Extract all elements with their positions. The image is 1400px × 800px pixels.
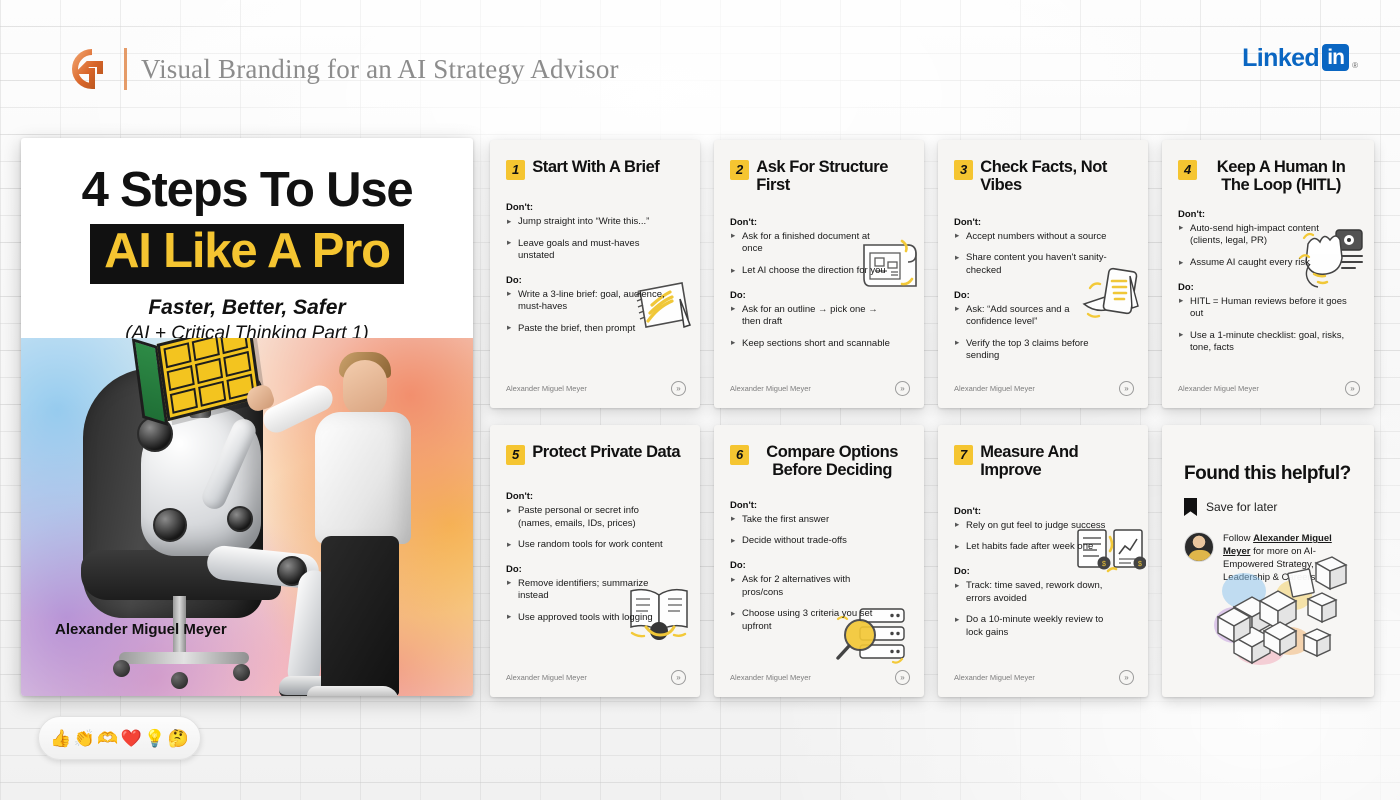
list-item: Auto-send high-impact content (clients, … <box>1178 223 1338 248</box>
dont-label: Don't: <box>954 217 1132 228</box>
list-item: Paste personal or secret info (names, em… <box>506 505 666 530</box>
cover-line-3: Faster, Better, Safer <box>41 296 453 320</box>
chevron-double-right-icon[interactable]: » <box>895 670 910 685</box>
card-title-row: 7 Measure And Improve <box>954 443 1132 480</box>
curious-think-reaction-icon[interactable]: 🤔 <box>168 730 189 747</box>
list-item: Use approved tools with logging <box>506 612 666 625</box>
cover-author-name: Alexander Miguel Meyer <box>55 621 227 638</box>
robot-wrist-joint <box>227 506 253 532</box>
dont-label: Don't: <box>506 491 684 502</box>
card-footer: Alexander Miguel Meyer » <box>954 381 1134 396</box>
card-number-badge: 4 <box>1178 160 1197 180</box>
man-sneaker <box>307 686 399 696</box>
list-item: HITL = Human reviews before it goes out <box>1178 296 1356 321</box>
exploding-cube-illustration-icon <box>1198 555 1348 679</box>
card-title-row: 2 Ask For Structure First <box>730 158 908 195</box>
chevron-double-right-icon[interactable]: » <box>671 381 686 396</box>
do-label: Do: <box>954 290 1132 301</box>
man-white-shirt <box>315 412 411 544</box>
card-title: Start With A Brief <box>532 158 659 176</box>
save-for-later-label: Save for later <box>1206 500 1277 514</box>
linkedin-wordmark: Linked <box>1242 46 1319 71</box>
footer-author: Alexander Miguel Meyer <box>506 384 587 393</box>
cover-heading-block: 4 Steps To Use AI Like A Pro Faster, Bet… <box>21 138 473 345</box>
man-trousers <box>321 536 399 696</box>
card-title: Compare Options Before Deciding <box>756 443 908 480</box>
card-footer: Alexander Miguel Meyer » <box>506 381 686 396</box>
chevron-double-right-icon[interactable]: » <box>895 381 910 396</box>
card-footer: Alexander Miguel Meyer » <box>506 670 686 685</box>
chevron-double-right-icon[interactable]: » <box>1119 670 1134 685</box>
card-title-row: 1 Start With A Brief <box>506 158 684 180</box>
do-label: Do: <box>730 560 908 571</box>
dont-label: Don't: <box>506 202 684 213</box>
card-number-badge: 5 <box>506 445 525 465</box>
header-divider <box>124 48 127 90</box>
insightful-bulb-reaction-icon[interactable]: 💡 <box>144 730 165 747</box>
footer-author: Alexander Miguel Meyer <box>1178 384 1259 393</box>
linkedin-logo[interactable]: Linked in ® <box>1242 44 1358 71</box>
list-item: Ask for 2 alternatives with pros/cons <box>730 574 890 599</box>
chevron-double-right-icon[interactable]: » <box>671 670 686 685</box>
list-item: Let AI choose the direction for you <box>730 265 890 278</box>
dont-list: Ask for a finished document at once Let … <box>730 231 908 278</box>
cta-title: Found this helpful? <box>1184 463 1352 485</box>
card-footer: Alexander Miguel Meyer » <box>730 670 910 685</box>
list-item: Choose using 3 criteria you set upfront <box>730 608 890 633</box>
dont-label: Don't: <box>954 506 1132 517</box>
card-footer: Alexander Miguel Meyer » <box>730 381 910 396</box>
list-item: Remove identifiers; summarize instead <box>506 578 666 603</box>
list-item: Accept numbers without a source <box>954 231 1114 244</box>
card-title: Ask For Structure First <box>756 158 908 195</box>
do-label: Do: <box>954 566 1132 577</box>
chair-base <box>119 652 249 664</box>
list-item: Leave goals and must-haves unstated <box>506 238 666 263</box>
cover-slide[interactable]: 4 Steps To Use AI Like A Pro Faster, Bet… <box>21 138 473 696</box>
chair-caster <box>171 672 188 689</box>
footer-author: Alexander Miguel Meyer <box>730 384 811 393</box>
dont-list: Rely on gut feel to judge success Let ha… <box>954 520 1132 554</box>
heart-hands-reaction-icon[interactable]: 🫶 <box>97 730 118 747</box>
card-title-row: 5 Protect Private Data <box>506 443 684 465</box>
slide-card-5[interactable]: 5 Protect Private Data Don't: Paste pers… <box>490 425 700 697</box>
dont-list: Accept numbers without a source Share co… <box>954 231 1132 278</box>
do-list: Write a 3-line brief: goal, audience, mu… <box>506 289 684 336</box>
list-item: Decide without trade-offs <box>730 535 890 548</box>
card-title: Keep A Human In The Loop (HITL) <box>1204 158 1358 195</box>
chevron-double-right-icon[interactable]: » <box>1119 381 1134 396</box>
cover-line-2: AI Like A Pro <box>104 227 390 277</box>
list-item: Paste the brief, then prompt <box>506 323 666 336</box>
footer-author: Alexander Miguel Meyer <box>954 673 1035 682</box>
dont-label: Don't: <box>1178 209 1358 220</box>
dont-list: Take the first answer Decide without tra… <box>730 514 908 548</box>
chevron-double-right-icon[interactable]: » <box>1345 381 1360 396</box>
slide-card-3[interactable]: 3 Check Facts, Not Vibes Don't: Accept n… <box>938 140 1148 408</box>
clap-reaction-icon[interactable]: 👏 <box>74 730 95 747</box>
chair-caster <box>113 660 130 677</box>
card-title: Measure And Improve <box>980 443 1132 480</box>
list-item: Take the first answer <box>730 514 890 527</box>
page-title: Visual Branding for an AI Strategy Advis… <box>141 54 619 85</box>
page-header: Visual Branding for an AI Strategy Advis… <box>0 0 1400 120</box>
dont-list: Auto-send high-impact content (clients, … <box>1178 223 1358 270</box>
robot-and-man-with-rubiks-cube-icon: Alexander Miguel Meyer <box>21 338 473 696</box>
card-title-row: 4 Keep A Human In The Loop (HITL) <box>1178 158 1358 195</box>
footer-author: Alexander Miguel Meyer <box>954 384 1035 393</box>
slide-card-2[interactable]: 2 Ask For Structure First Don't: Ask for… <box>714 140 924 408</box>
save-for-later-row[interactable]: Save for later <box>1184 498 1352 516</box>
linkedin-trademark: ® <box>1352 61 1358 70</box>
chair-caster <box>233 664 250 681</box>
card-number-badge: 7 <box>954 445 973 465</box>
do-list: Ask: “Add sources and a confidence level… <box>954 304 1132 363</box>
reactions-bar[interactable]: 👍 👏 🫶 ❤️ 💡 🤔 <box>38 716 201 760</box>
card-footer: Alexander Miguel Meyer » <box>954 670 1134 685</box>
thumbs-up-reaction-icon[interactable]: 👍 <box>50 730 71 747</box>
cg-monogram-logo-icon <box>52 44 110 94</box>
do-label: Do: <box>506 275 684 286</box>
do-list: Track: time saved, rework down, errors a… <box>954 580 1132 639</box>
do-label: Do: <box>506 564 684 575</box>
list-item: Write a 3-line brief: goal, audience, mu… <box>506 289 666 314</box>
card-title: Check Facts, Not Vibes <box>980 158 1132 195</box>
love-heart-reaction-icon[interactable]: ❤️ <box>121 730 142 747</box>
list-item: Verify the top 3 claims before sending <box>954 338 1114 363</box>
do-list: Remove identifiers; summarize instead Us… <box>506 578 684 625</box>
list-item: Rely on gut feel to judge success <box>954 520 1114 533</box>
svg-text:$: $ <box>1138 561 1142 568</box>
list-item: Jump straight into “Write this...” <box>506 216 666 229</box>
slide-card-1[interactable]: 1 Start With A Brief Don't: Jump straigh… <box>490 140 700 408</box>
do-label: Do: <box>1178 282 1358 293</box>
footer-author: Alexander Miguel Meyer <box>506 673 587 682</box>
slide-card-7[interactable]: 7 Measure And Improve Don't: Rely on gut… <box>938 425 1148 697</box>
cta-card[interactable]: Found this helpful? Save for later Follo… <box>1162 425 1374 697</box>
follow-prefix: Follow <box>1223 533 1250 544</box>
card-number-badge: 6 <box>730 445 749 465</box>
dont-list: Paste personal or secret info (names, em… <box>506 505 684 552</box>
list-item: Share content you haven't sanity-checked <box>954 252 1114 277</box>
card-title: Protect Private Data <box>532 443 680 461</box>
card-number-badge: 2 <box>730 160 749 180</box>
card-title-row: 3 Check Facts, Not Vibes <box>954 158 1132 195</box>
do-label: Do: <box>730 290 908 301</box>
dont-list: Jump straight into “Write this...” Leave… <box>506 216 684 263</box>
do-list: HITL = Human reviews before it goes out … <box>1178 296 1356 355</box>
list-item: Use random tools for work content <box>506 539 666 552</box>
card-title-row: 6 Compare Options Before Deciding <box>730 443 908 480</box>
bookmark-icon <box>1184 498 1197 516</box>
do-list: Ask for an outline → pick one → then dra… <box>730 304 908 351</box>
list-item: Ask: “Add sources and a confidence level… <box>954 304 1114 329</box>
list-item: Let habits fade after week one <box>954 541 1114 554</box>
list-item: Assume AI caught every risk <box>1178 257 1338 270</box>
dont-label: Don't: <box>730 500 908 511</box>
do-list: Ask for 2 alternatives with pros/cons Ch… <box>730 574 908 633</box>
list-item: Track: time saved, rework down, errors a… <box>954 580 1114 605</box>
brand-lockup: Visual Branding for an AI Strategy Advis… <box>52 44 619 94</box>
list-item: Do a 10-minute weekly review to lock gai… <box>954 614 1114 639</box>
list-item: Use a 1-minute checklist: goal, risks, t… <box>1178 330 1356 355</box>
card-number-badge: 1 <box>506 160 525 180</box>
robot-elbow-joint <box>153 508 187 542</box>
man-head <box>343 360 387 416</box>
dont-label: Don't: <box>730 217 908 228</box>
footer-author: Alexander Miguel Meyer <box>730 673 811 682</box>
list-item: Ask for an outline → pick one → then dra… <box>730 304 890 329</box>
card-number-badge: 3 <box>954 160 973 180</box>
cover-line-1: 4 Steps To Use <box>41 166 453 216</box>
list-item: Ask for a finished document at once <box>730 231 890 256</box>
slide-card-6[interactable]: 6 Compare Options Before Deciding Don't:… <box>714 425 924 697</box>
slide-card-4[interactable]: 4 Keep A Human In The Loop (HITL) Don't:… <box>1162 140 1374 408</box>
list-item: Keep sections short and scannable <box>730 338 890 351</box>
card-footer: Alexander Miguel Meyer » <box>1178 381 1360 396</box>
cover-highlight-band: AI Like A Pro <box>90 224 404 284</box>
linkedin-in-badge: in <box>1322 44 1349 71</box>
